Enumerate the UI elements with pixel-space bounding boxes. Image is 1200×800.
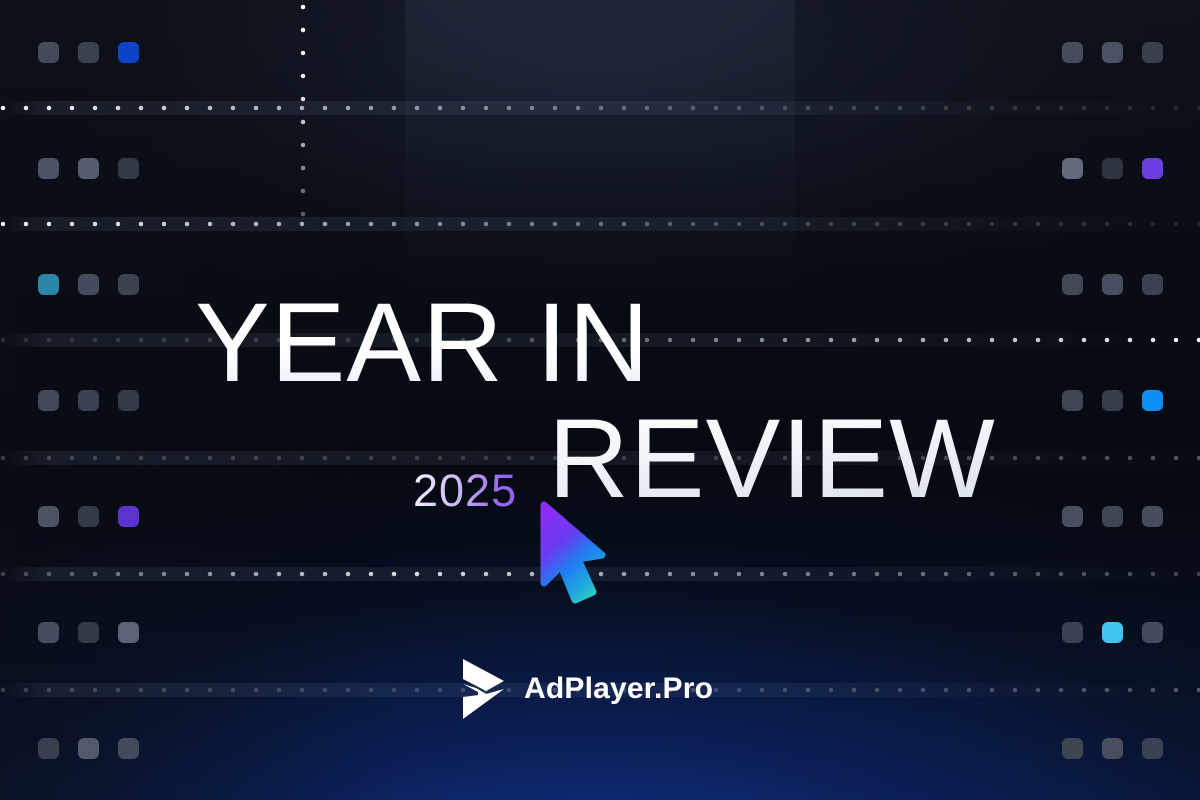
decor-chip-33 <box>1062 622 1083 643</box>
decor-chip-21 <box>1062 390 1083 411</box>
decor-chip-11 <box>1142 158 1163 179</box>
decor-chip-6 <box>38 158 59 179</box>
year-badge: 2025 <box>413 465 517 517</box>
rail-dots <box>0 105 1200 111</box>
decor-chip-8 <box>118 158 139 179</box>
decor-chip-31 <box>78 622 99 643</box>
decor-chip-5 <box>1142 42 1163 63</box>
decor-chip-19 <box>78 390 99 411</box>
decor-chip-22 <box>1102 390 1123 411</box>
dotted-rail-3 <box>0 447 1200 469</box>
decor-chip-12 <box>38 274 59 295</box>
decor-chip-9 <box>1062 158 1083 179</box>
decor-chip-41 <box>1142 738 1163 759</box>
brand-name: AdPlayer.Pro <box>524 672 713 706</box>
decor-chip-27 <box>1062 506 1083 527</box>
decor-chip-3 <box>1062 42 1083 63</box>
decor-chip-26 <box>118 506 139 527</box>
dotted-rail-1 <box>0 213 1200 235</box>
decor-chip-37 <box>78 738 99 759</box>
decor-chip-2 <box>118 42 139 63</box>
decor-chip-24 <box>38 506 59 527</box>
decor-chip-13 <box>78 274 99 295</box>
decor-chip-0 <box>38 42 59 63</box>
decor-chip-15 <box>1062 274 1083 295</box>
decor-chip-18 <box>38 390 59 411</box>
play-triangle-logo-icon <box>460 658 508 720</box>
decor-chip-35 <box>1142 622 1163 643</box>
dotted-rail-0 <box>0 97 1200 119</box>
mouse-pointer-icon <box>531 500 615 610</box>
decor-chip-30 <box>38 622 59 643</box>
decor-chip-34 <box>1102 622 1123 643</box>
background-top-panel-band <box>405 0 795 300</box>
decor-chip-38 <box>118 738 139 759</box>
decor-chip-39 <box>1062 738 1083 759</box>
decor-chip-4 <box>1102 42 1123 63</box>
decor-chip-14 <box>118 274 139 295</box>
dotted-rail-2 <box>0 329 1200 351</box>
rail-dots <box>0 455 1200 461</box>
vertical-dotted-rail <box>300 4 306 222</box>
rail-dots <box>0 221 1200 227</box>
decor-chip-20 <box>118 390 139 411</box>
decor-chip-25 <box>78 506 99 527</box>
decor-chip-16 <box>1102 274 1123 295</box>
decor-chip-7 <box>78 158 99 179</box>
brand-lockup: AdPlayer.Pro <box>460 658 713 720</box>
decor-chip-23 <box>1142 390 1163 411</box>
decor-chip-1 <box>78 42 99 63</box>
year-in-review-banner: YEAR IN 2025 REVIEW <box>0 0 1200 800</box>
decor-chip-32 <box>118 622 139 643</box>
decor-chip-10 <box>1102 158 1123 179</box>
decor-chip-17 <box>1142 274 1163 295</box>
decor-chip-29 <box>1142 506 1163 527</box>
rail-dots <box>0 337 1200 343</box>
decor-chip-28 <box>1102 506 1123 527</box>
decor-chip-40 <box>1102 738 1123 759</box>
decor-chip-36 <box>38 738 59 759</box>
